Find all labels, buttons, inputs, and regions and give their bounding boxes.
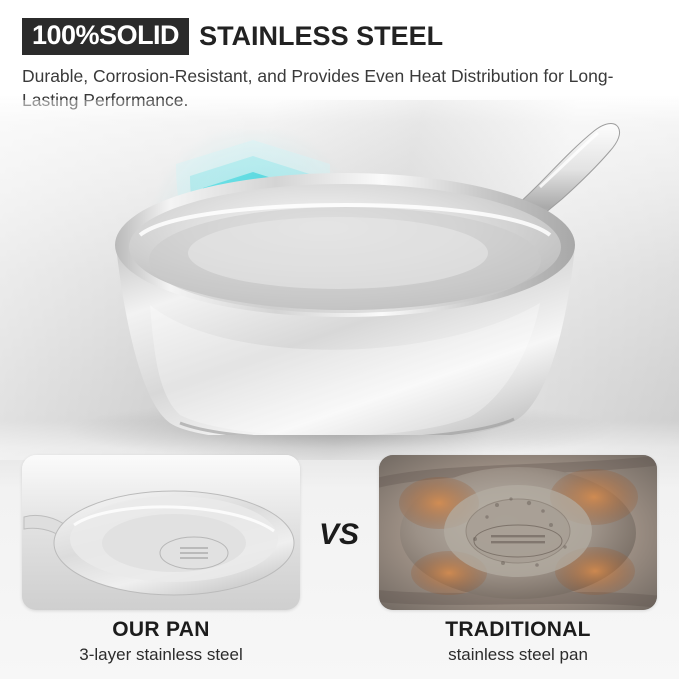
comparison-section: VS [0,455,679,679]
traditional-pan-card [379,455,657,610]
traditional-pan-title: TRADITIONAL [379,618,657,642]
traditional-pan-bottom-image [379,455,657,610]
vs-label: VS [313,513,365,557]
headline-text: STAINLESS STEEL [199,23,443,50]
traditional-pan-subtitle: stainless steel pan [379,645,657,665]
stainless-pan-illustration [70,95,630,435]
our-pan-bottom-image [22,455,300,610]
headline: 100%SOLID STAINLESS STEEL [22,18,657,55]
our-pan-title: OUR PAN [22,618,300,642]
our-pan-caption: OUR PAN 3-layer stainless steel [22,618,300,665]
our-pan-card [22,455,300,610]
traditional-pan-caption: TRADITIONAL stainless steel pan [379,618,657,665]
hero-pan-image [70,95,630,435]
product-infographic: 100%SOLID STAINLESS STEEL Durable, Corro… [0,0,679,679]
our-pan-subtitle: 3-layer stainless steel [22,645,300,665]
solid-badge: 100%SOLID [22,18,189,55]
